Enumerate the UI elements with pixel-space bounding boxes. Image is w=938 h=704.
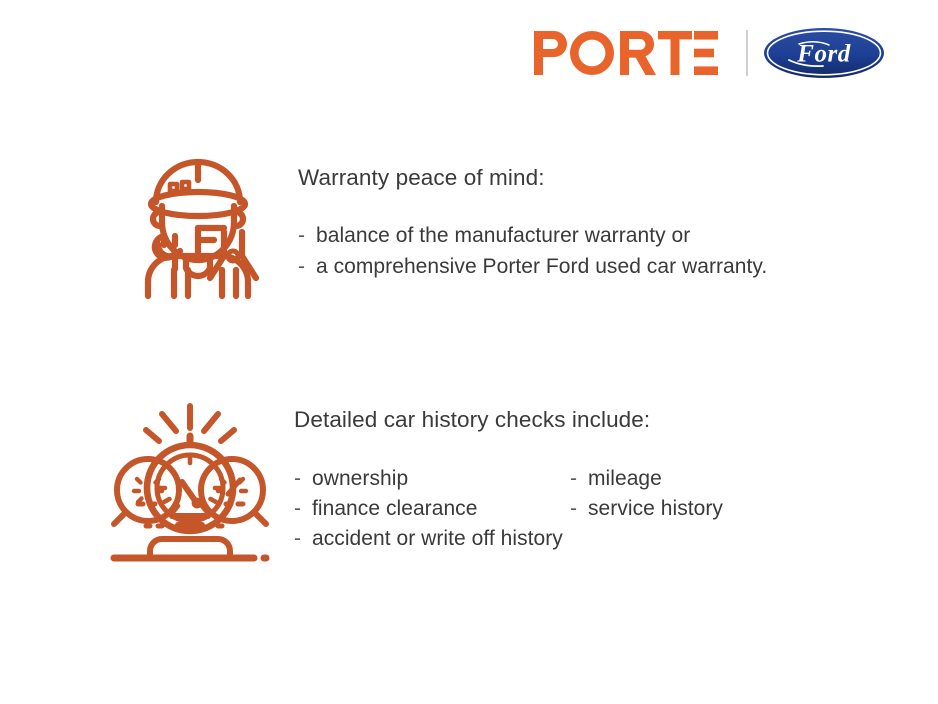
section-warranty: Warranty peace of mind: - balance of the… — [118, 140, 767, 300]
bullet-label: mileage — [588, 464, 662, 494]
bullet-label: ownership — [312, 464, 408, 494]
bullet-marker: - — [570, 494, 588, 524]
dashboard-gauges-icon — [100, 392, 280, 567]
warranty-bullet-list: - balance of the manufacturer warranty o… — [298, 220, 767, 282]
bullet-marker: - — [294, 524, 312, 554]
section-history: Detailed car history checks include: - o… — [100, 392, 723, 567]
warranty-heading: Warranty peace of mind: — [298, 164, 767, 191]
bullet-label: accident or write off history — [312, 524, 563, 554]
bullet-label: service history — [588, 494, 723, 524]
bullet-left: - accident or write off history — [294, 524, 563, 554]
bullet-marker: - — [294, 464, 312, 494]
bullet-right: - service history — [570, 494, 723, 524]
history-heading: Detailed car history checks include: — [294, 406, 723, 433]
list-item: - accident or write off history — [294, 524, 723, 554]
warranty-text-block: Warranty peace of mind: - balance of the… — [298, 140, 767, 282]
list-item: - ownership - mileage — [294, 464, 723, 494]
bullet-marker: - — [298, 220, 316, 251]
list-item: - a comprehensive Porter Ford used car w… — [298, 251, 767, 282]
bullet-left: - finance clearance — [294, 494, 570, 524]
list-item: - finance clearance - service history — [294, 494, 723, 524]
bullet-label: finance clearance — [312, 494, 477, 524]
bullet-right: - mileage — [570, 464, 662, 494]
bullet-marker: - — [294, 494, 312, 524]
bullet-label: a comprehensive Porter Ford used car war… — [316, 251, 767, 282]
bullet-marker: - — [570, 464, 588, 494]
bullet-label: balance of the manufacturer warranty or — [316, 220, 690, 251]
list-item: - balance of the manufacturer warranty o… — [298, 220, 767, 251]
brand-header: Ford — [534, 22, 890, 84]
porter-wordmark — [534, 29, 730, 77]
history-bullet-list: - ownership - mileage - finance clearanc… — [294, 464, 723, 554]
history-text-block: Detailed car history checks include: - o… — [294, 392, 723, 554]
bullet-marker: - — [298, 251, 316, 282]
svg-text:Ford: Ford — [796, 41, 850, 68]
ford-logo: Ford — [763, 27, 885, 79]
brand-divider — [746, 30, 748, 76]
mechanic-icon — [118, 140, 278, 300]
bullet-left: - ownership — [294, 464, 570, 494]
